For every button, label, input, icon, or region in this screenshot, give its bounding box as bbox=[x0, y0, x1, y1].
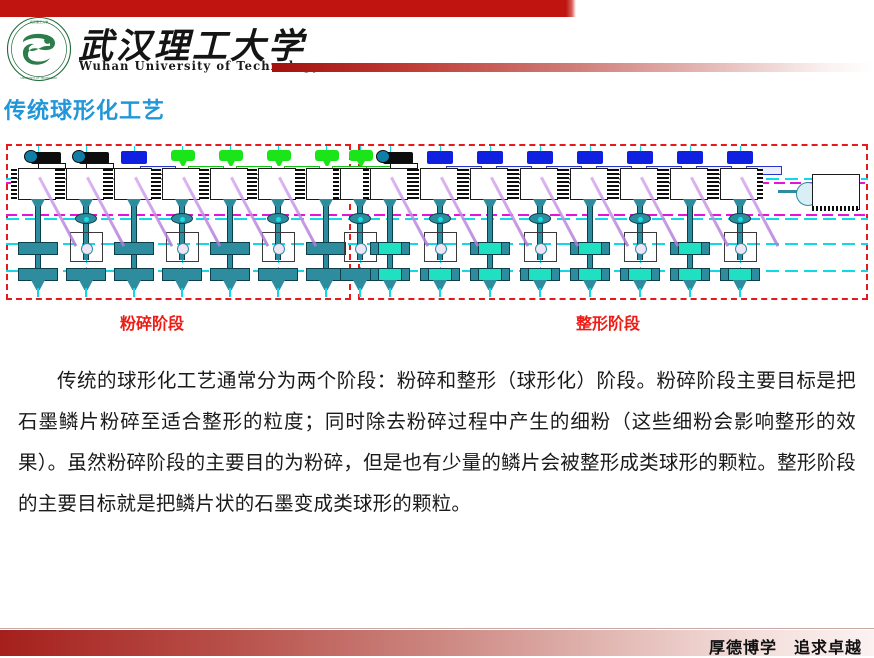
machine-unit bbox=[366, 150, 416, 295]
body-paragraph: 传统的球形化工艺通常分为两个阶段：粉碎和整形（球形化）阶段。粉碎阶段主要目标是把… bbox=[18, 360, 856, 524]
base-support-insert bbox=[628, 268, 652, 281]
motor-cap-icon bbox=[24, 150, 38, 163]
end-pipe-left bbox=[778, 190, 798, 193]
vessel-fins-left bbox=[251, 169, 257, 199]
base-support-insert bbox=[678, 268, 702, 281]
caption-crushing-stage: 粉碎阶段 bbox=[120, 310, 184, 334]
machine-unit bbox=[666, 150, 716, 295]
vessel-fins-left bbox=[107, 169, 113, 199]
vessel-fins-left bbox=[663, 169, 669, 199]
slide-header: 武汉理工大学 UNIVERSITY OF TECHNOLOGY 武汉理工大学 W… bbox=[0, 0, 874, 88]
machine-unit bbox=[466, 150, 516, 295]
vessel-fins-left bbox=[363, 169, 369, 199]
motor-cap-icon bbox=[72, 150, 86, 163]
mid-support-block bbox=[18, 242, 58, 255]
base-support-insert bbox=[728, 268, 752, 281]
outlet-drop-line bbox=[589, 288, 591, 297]
product-collector-foot bbox=[812, 206, 858, 211]
caption-shaping-stage: 整形阶段 bbox=[576, 310, 640, 334]
machine-unit bbox=[616, 150, 666, 295]
base-support-insert bbox=[428, 268, 452, 281]
outlet-drop-line bbox=[133, 288, 135, 297]
outlet-drop-line bbox=[37, 288, 39, 297]
machine-unit bbox=[62, 150, 112, 295]
vessel-fins-left bbox=[413, 169, 419, 199]
mid-support-insert bbox=[578, 242, 602, 255]
machine-unit bbox=[158, 150, 208, 295]
classifier-rotor-icon bbox=[635, 243, 647, 255]
vessel-fins-right bbox=[757, 169, 763, 199]
vessel-fins-left bbox=[11, 169, 17, 199]
outlet-drop-line bbox=[229, 288, 231, 297]
feed-hopper-blue-icon bbox=[727, 151, 753, 164]
base-support-insert bbox=[478, 268, 502, 281]
mid-support-block bbox=[114, 242, 154, 255]
classifier-rotor-icon bbox=[273, 243, 285, 255]
mid-support-insert bbox=[478, 242, 502, 255]
outlet-drop-line bbox=[739, 288, 741, 297]
mid-support-block bbox=[210, 242, 250, 255]
vessel-fins-left bbox=[59, 169, 65, 199]
machine-unit bbox=[516, 150, 566, 295]
top-red-accent-bar-taper bbox=[566, 0, 576, 17]
feed-hopper-green-icon bbox=[219, 150, 243, 161]
classifier-rotor-icon bbox=[81, 243, 93, 255]
svg-text:武汉理工大学: 武汉理工大学 bbox=[30, 19, 49, 24]
base-support-block bbox=[114, 268, 154, 281]
base-support-block bbox=[18, 268, 58, 281]
outlet-drop-line bbox=[689, 288, 691, 297]
outlet-drop-line bbox=[85, 288, 87, 297]
feed-hopper-blue-icon bbox=[627, 151, 653, 164]
base-support-insert bbox=[578, 268, 602, 281]
vessel-fins-left bbox=[713, 169, 719, 199]
outlet-drop-line bbox=[639, 288, 641, 297]
base-support-block bbox=[66, 268, 106, 281]
feed-hopper-blue-icon bbox=[121, 151, 147, 164]
base-support-insert bbox=[528, 268, 552, 281]
classifier-rotor-icon bbox=[535, 243, 547, 255]
outlet-drop-line bbox=[359, 288, 361, 297]
feed-hopper-blue-icon bbox=[527, 151, 553, 164]
vessel-fins-left bbox=[155, 169, 161, 199]
machine-unit bbox=[206, 150, 256, 295]
classifier-rotor-icon bbox=[735, 243, 747, 255]
motor-cap-icon bbox=[376, 150, 390, 163]
outlet-drop-line bbox=[489, 288, 491, 297]
vessel-fins-left bbox=[563, 169, 569, 199]
rotary-valve-icon bbox=[629, 213, 651, 224]
feed-hopper-blue-icon bbox=[427, 151, 453, 164]
classifier-rotor-icon bbox=[435, 243, 447, 255]
base-support-block bbox=[258, 268, 298, 281]
base-support-block bbox=[210, 268, 250, 281]
outlet-drop-line bbox=[181, 288, 183, 297]
rotary-valve-icon bbox=[429, 213, 451, 224]
rotary-valve-icon bbox=[75, 213, 97, 224]
machine-unit bbox=[716, 150, 766, 295]
slide-footer: 厚德博学 追求卓越 bbox=[0, 626, 874, 656]
product-collector-vessel bbox=[812, 174, 860, 210]
footer-motto: 厚德博学 追求卓越 bbox=[709, 634, 862, 658]
footer-hairline bbox=[0, 628, 874, 629]
outlet-drop-line bbox=[539, 288, 541, 297]
base-support-block bbox=[162, 268, 202, 281]
rotary-valve-icon bbox=[729, 213, 751, 224]
outlet-drop-line bbox=[325, 288, 327, 297]
feed-hopper-blue-icon bbox=[577, 151, 603, 164]
machine-unit bbox=[416, 150, 466, 295]
header-gradient-rule bbox=[272, 63, 874, 72]
outlet-drop-line bbox=[389, 288, 391, 297]
vessel-fins-left bbox=[463, 169, 469, 199]
machine-unit bbox=[110, 150, 160, 295]
vessel-fins-left bbox=[513, 169, 519, 199]
machine-unit bbox=[566, 150, 616, 295]
top-red-accent-bar bbox=[0, 0, 572, 17]
classifier-rotor-icon bbox=[177, 243, 189, 255]
feed-hopper-blue-icon bbox=[677, 151, 703, 164]
machine-unit bbox=[254, 150, 304, 295]
vessel-fins-left bbox=[613, 169, 619, 199]
base-support-insert bbox=[378, 268, 402, 281]
mid-support-insert bbox=[678, 242, 702, 255]
machine-unit bbox=[14, 150, 64, 295]
rotary-valve-icon bbox=[529, 213, 551, 224]
wut-circular-emblem-icon: 武汉理工大学 UNIVERSITY OF TECHNOLOGY bbox=[6, 16, 72, 82]
process-flow-diagram bbox=[6, 144, 868, 300]
rotary-valve-icon bbox=[267, 213, 289, 224]
slide-title: 传统球形化工艺 bbox=[4, 93, 165, 125]
vessel-fins-left bbox=[333, 169, 339, 199]
outlet-drop-line bbox=[277, 288, 279, 297]
rotary-valve-icon bbox=[171, 213, 193, 224]
vessel-fins-left bbox=[299, 169, 305, 199]
svg-text:UNIVERSITY OF TECHNOLOGY: UNIVERSITY OF TECHNOLOGY bbox=[20, 76, 57, 80]
feed-hopper-green-icon bbox=[267, 150, 291, 161]
vessel-fins-left bbox=[203, 169, 209, 199]
feed-hopper-green-icon bbox=[171, 150, 195, 161]
mid-support-insert bbox=[378, 242, 402, 255]
outlet-drop-line bbox=[439, 288, 441, 297]
feed-hopper-blue-icon bbox=[477, 151, 503, 164]
